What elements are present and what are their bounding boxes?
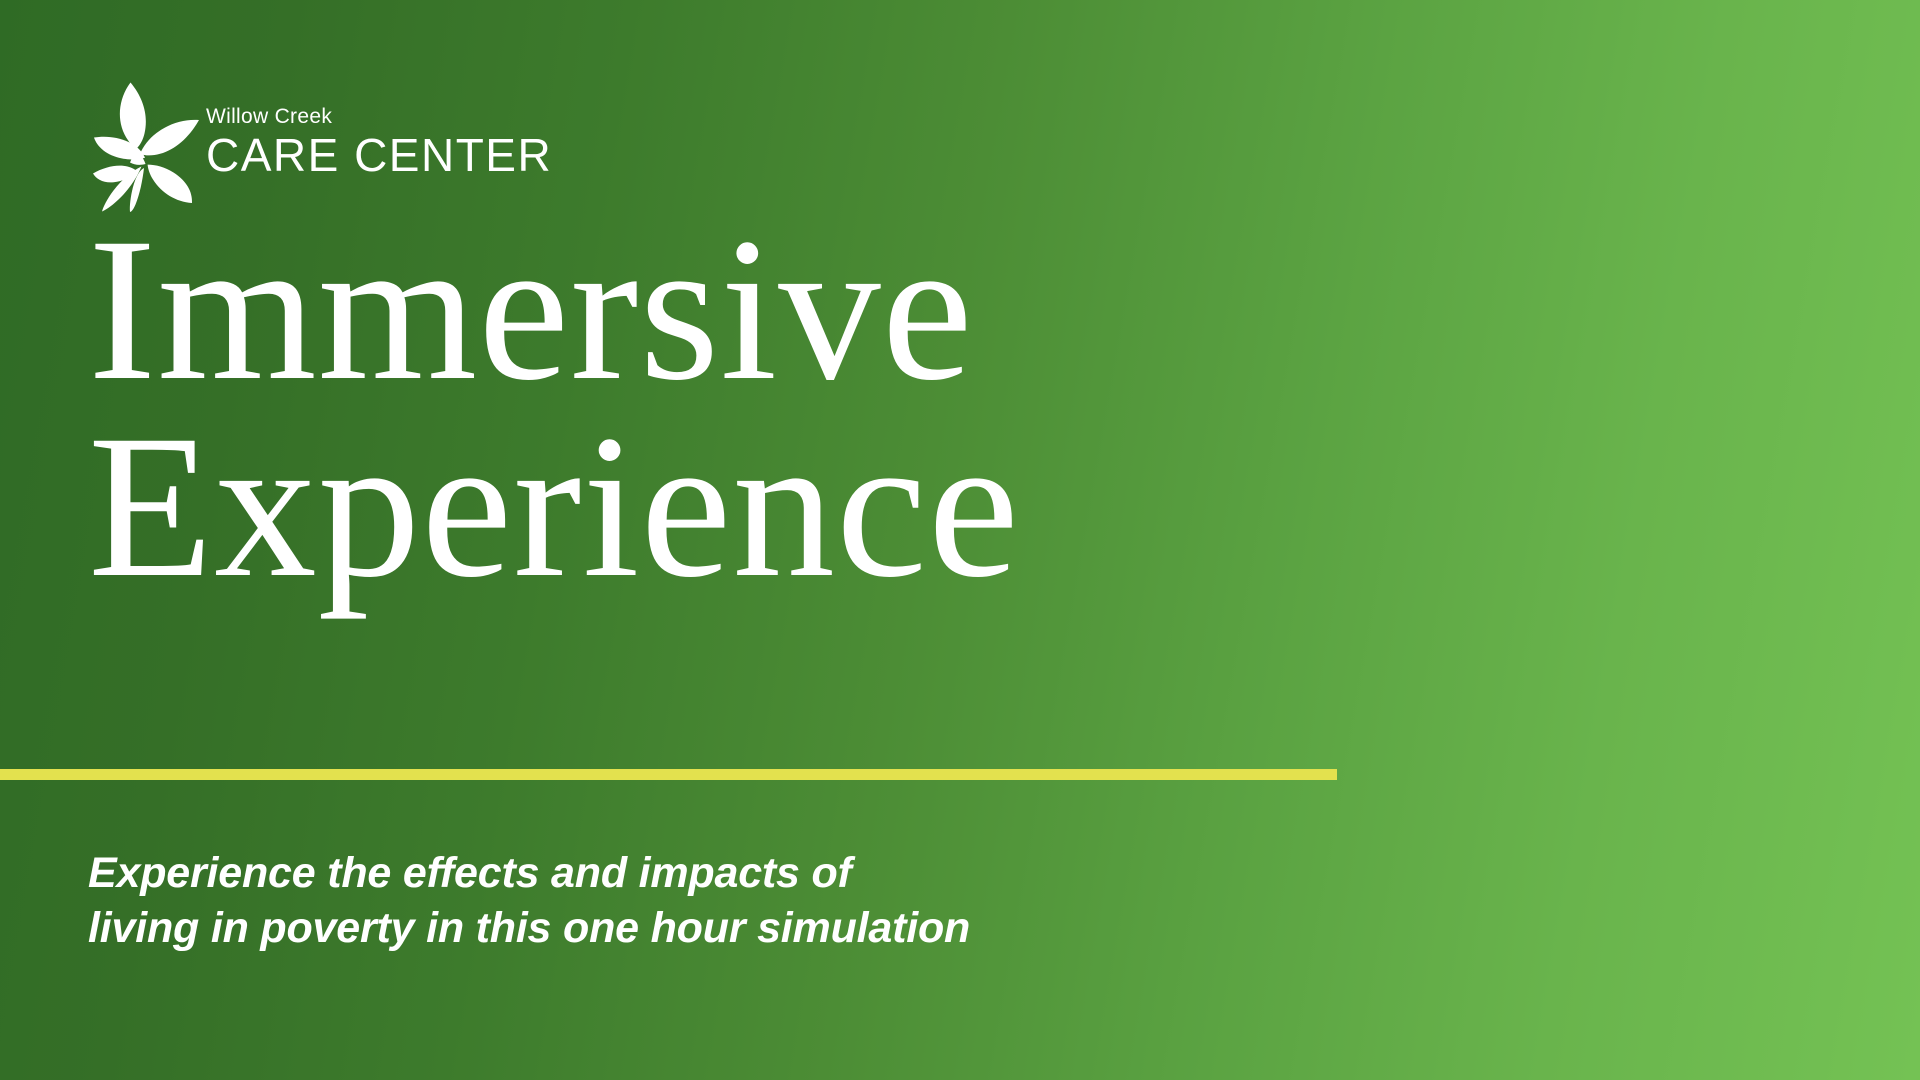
- brand-name-main: CARE CENTER: [206, 132, 556, 178]
- page-title: Immersive Experience: [88, 212, 1388, 606]
- page-title-line-1: Immersive: [88, 212, 1388, 409]
- page-subtitle-line-2: living in poverty in this one hour simul…: [88, 901, 1288, 956]
- promo-poster: Willow Creek CARE CENTER Immersive Exper…: [0, 0, 1920, 1080]
- brand-name-top: Willow Creek: [206, 106, 556, 127]
- accent-divider: [0, 769, 1337, 780]
- willow-leaf-cluster-icon: [88, 80, 200, 212]
- brand-wordmark: Willow Creek CARE CENTER: [206, 106, 556, 178]
- page-subtitle-line-1: Experience the effects and impacts of: [88, 846, 1288, 901]
- page-subtitle: Experience the effects and impacts of li…: [88, 846, 1288, 956]
- page-title-line-2: Experience: [88, 409, 1388, 606]
- brand-logo-lockup: Willow Creek CARE CENTER: [88, 80, 558, 215]
